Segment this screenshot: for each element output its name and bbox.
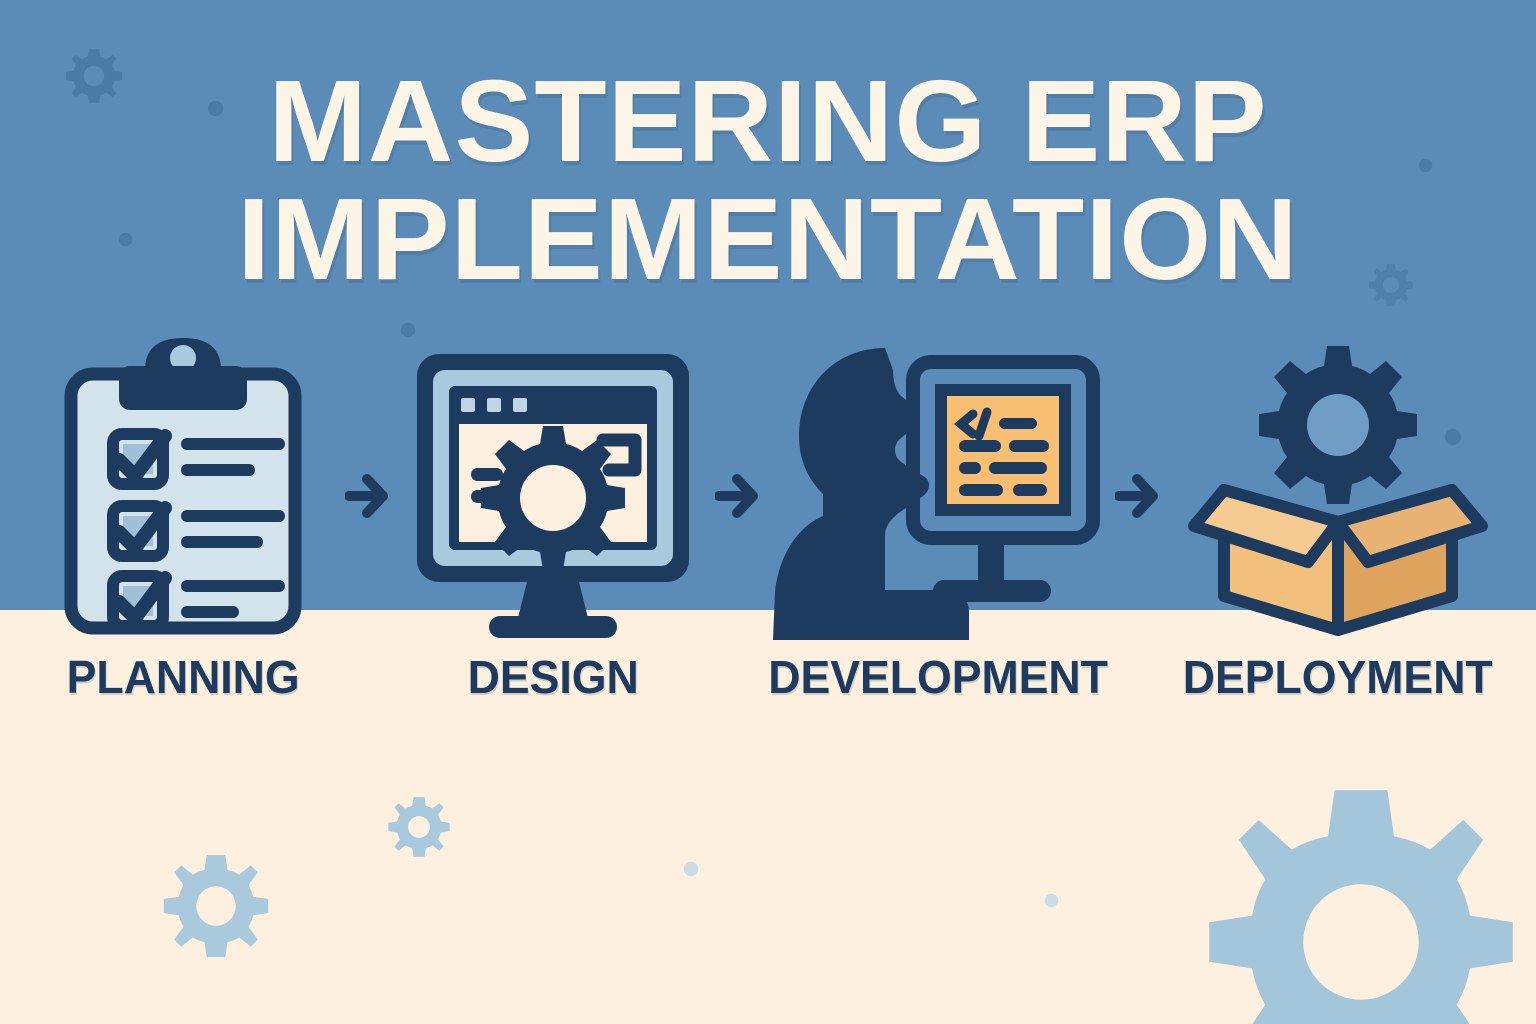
step-planning[interactable]: PLANNING xyxy=(33,330,333,750)
dot-bottom-right xyxy=(1044,893,1059,908)
step-label-development: DEVELOPMENT xyxy=(768,654,1108,700)
step-development[interactable]: DEVELOPMENT xyxy=(773,330,1103,750)
arrow-development-to-deployment xyxy=(1103,330,1173,750)
arrow-design-to-development xyxy=(703,330,773,750)
step-deployment[interactable]: DEPLOYMENT xyxy=(1173,330,1503,750)
developer-at-monitor-icon xyxy=(773,330,1103,640)
title-line-2: IMPLEMENTATION xyxy=(0,180,1536,298)
infographic-poster: MASTERING ERP IMPLEMENTATION xyxy=(0,0,1536,1024)
gear-bottom-left-small xyxy=(385,793,453,861)
gear-bottom-left-large xyxy=(158,848,274,964)
monitor-gear-icon xyxy=(403,330,703,640)
step-label-deployment: DEPLOYMENT xyxy=(1183,654,1493,700)
poster-title: MASTERING ERP IMPLEMENTATION xyxy=(0,62,1536,299)
step-label-design: DESIGN xyxy=(467,654,638,700)
clipboard-checklist-icon xyxy=(53,330,313,640)
process-steps-row: PLANNING xyxy=(0,330,1536,750)
title-line-1: MASTERING ERP xyxy=(0,62,1536,180)
step-design[interactable]: DESIGN xyxy=(403,330,703,750)
dot-bottom-center xyxy=(683,861,699,877)
gear-bottom-right-large xyxy=(1196,777,1526,1024)
open-box-gear-icon xyxy=(1188,330,1488,640)
arrow-planning-to-design xyxy=(333,330,403,750)
step-label-planning: PLANNING xyxy=(66,654,299,700)
